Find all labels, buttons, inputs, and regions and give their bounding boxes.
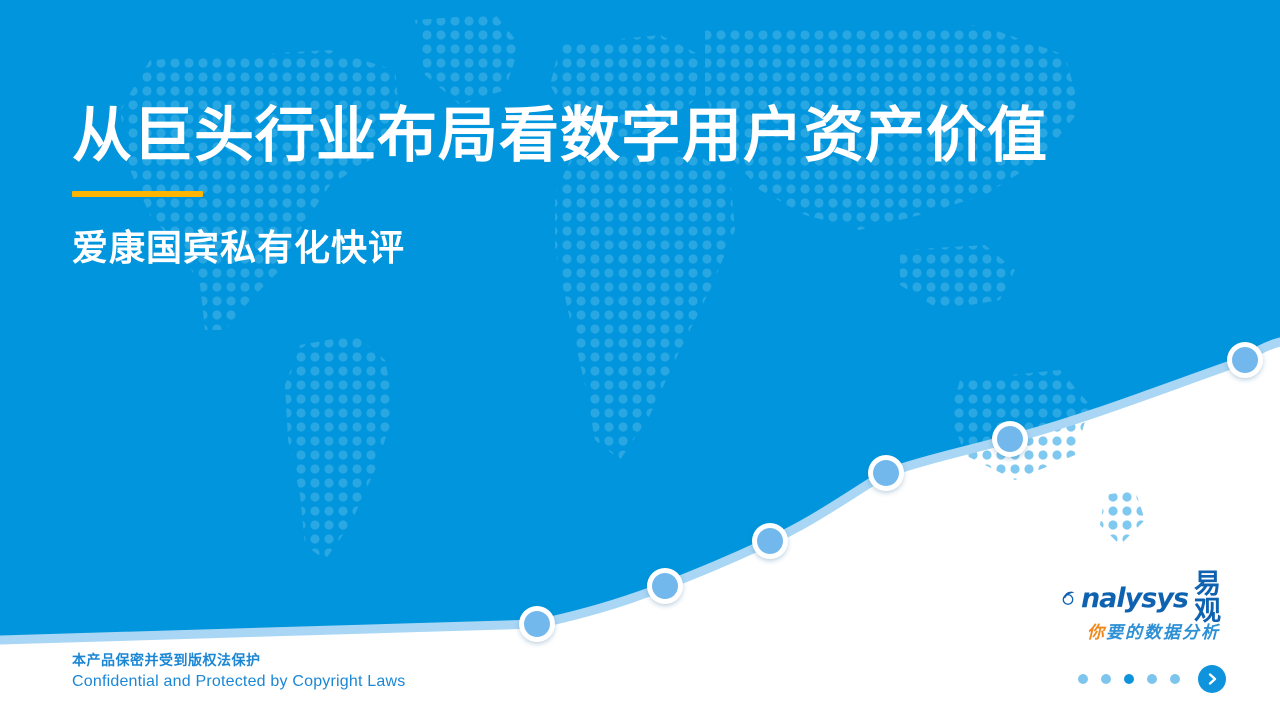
pagination-dot-3[interactable] — [1124, 674, 1134, 684]
brand-logo-row: nalysys 易观 — [1062, 583, 1222, 613]
title-block: 从巨头行业布局看数字用户资产价值 爱康国宾私有化快评 — [72, 104, 1172, 271]
presentation-slide: 从巨头行业布局看数字用户资产价值 爱康国宾私有化快评 本产品保密并受到版权法保护… — [0, 0, 1280, 720]
pagination-dot-4[interactable] — [1147, 674, 1157, 684]
page-title: 从巨头行业布局看数字用户资产价值 — [72, 104, 1172, 167]
chevron-right-icon — [1205, 672, 1219, 686]
confidential-notice-en: Confidential and Protected by Copyright … — [72, 670, 405, 693]
slide-pagination[interactable] — [1078, 665, 1226, 693]
brand-logo: nalysys 易观 你要的数据分析 — [1062, 583, 1222, 643]
brand-tagline-accent: 你 — [1087, 623, 1106, 642]
title-accent-rule — [72, 191, 203, 197]
page-subtitle: 爱康国宾私有化快评 — [72, 219, 1172, 271]
confidential-notice-cn: 本产品保密并受到版权法保护 — [72, 650, 405, 670]
brand-tagline-rest: 要的数据分析 — [1106, 623, 1220, 642]
analysys-swoosh-icon — [1062, 584, 1075, 612]
brand-tagline: 你要的数据分析 — [1062, 618, 1222, 643]
confidential-notice: 本产品保密并受到版权法保护 Confidential and Protected… — [72, 650, 405, 693]
brand-wordmark: nalysys — [1081, 585, 1188, 612]
brand-wordmark-cn: 易观 — [1194, 571, 1222, 625]
next-slide-button[interactable] — [1198, 665, 1226, 693]
pagination-dot-2[interactable] — [1101, 674, 1111, 684]
pagination-dot-5[interactable] — [1170, 674, 1180, 684]
pagination-dot-1[interactable] — [1078, 674, 1088, 684]
